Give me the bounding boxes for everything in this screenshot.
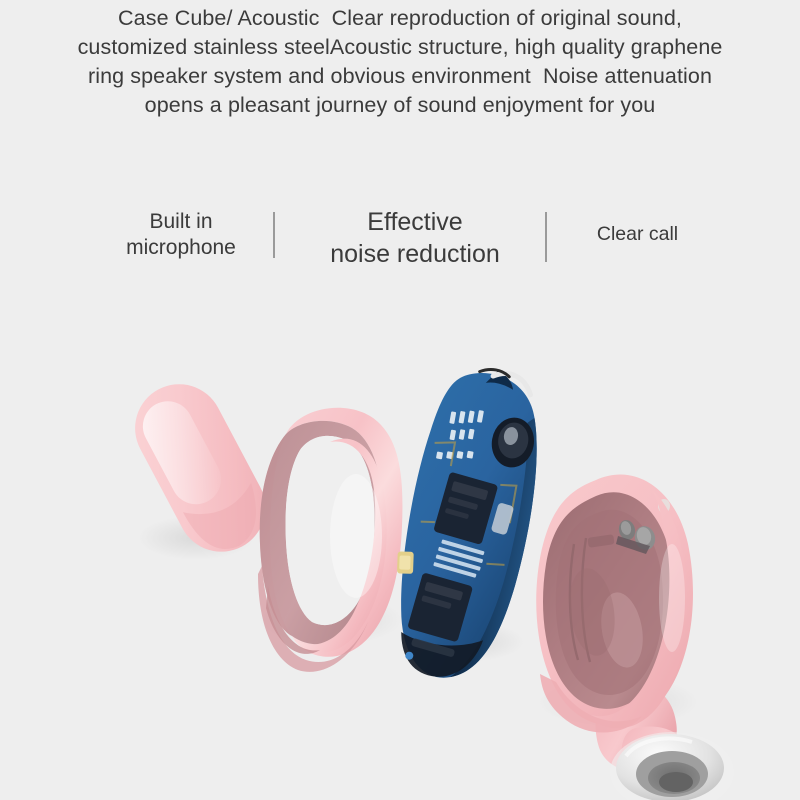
feature-clear-call: Clear call xyxy=(565,222,710,246)
exploded-product-illustration xyxy=(0,330,800,800)
feature-row: Built in microphone Effective noise redu… xyxy=(0,200,800,290)
feature-divider-1 xyxy=(273,212,275,258)
circuit-board xyxy=(377,359,554,689)
page-headline: Case Cube/ Acoustic Clear reproduction o… xyxy=(75,4,725,120)
product-feature-page: Case Cube/ Acoustic Clear reproduction o… xyxy=(0,0,800,800)
feature-built-in-microphone: Built in microphone xyxy=(106,209,256,262)
feature-effective-noise-reduction: Effective noise reduction xyxy=(300,207,530,270)
feature-divider-2 xyxy=(545,212,547,262)
earbud-shell xyxy=(536,475,734,800)
